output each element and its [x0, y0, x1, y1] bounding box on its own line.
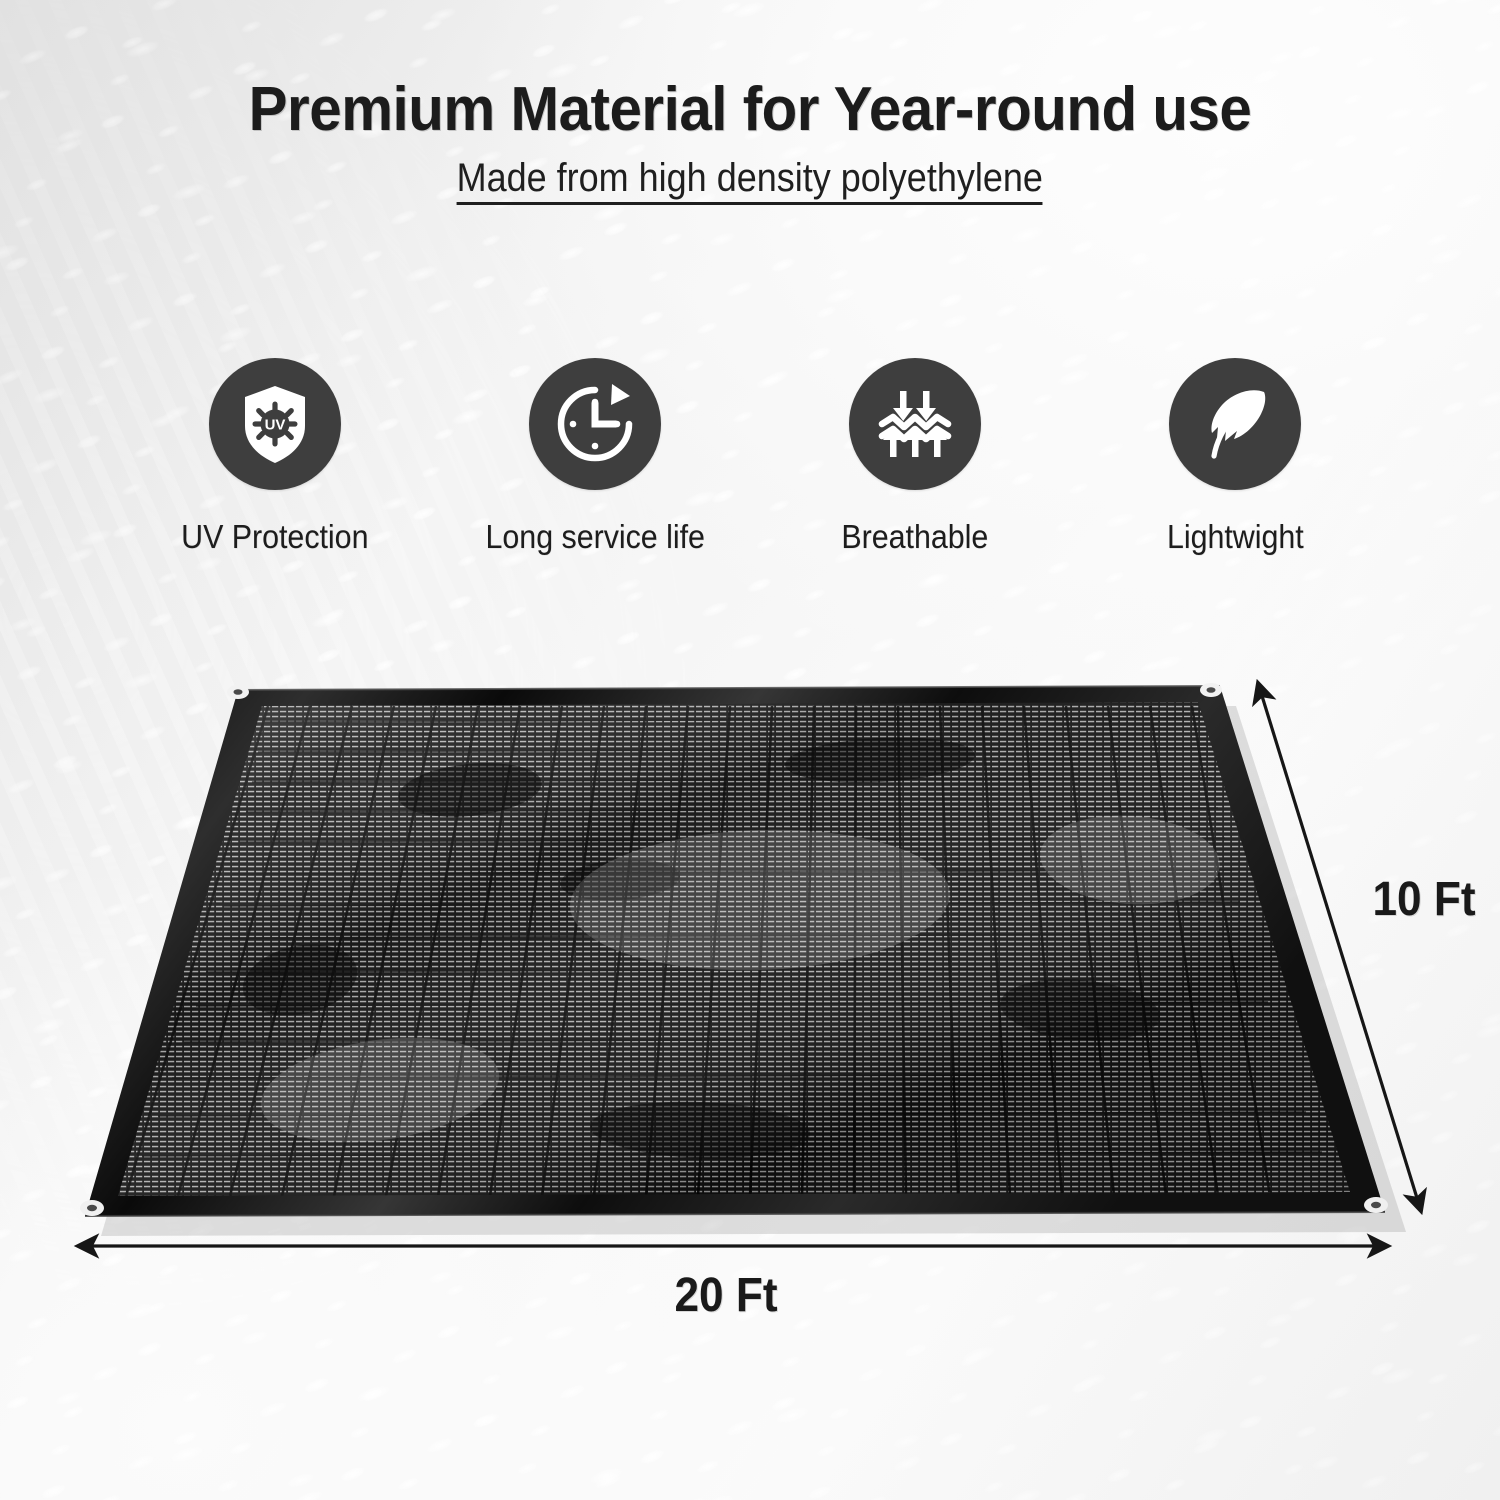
- dimension-label-width: 20 Ft: [674, 1268, 777, 1323]
- page-title: Premium Material for Year-round use: [45, 78, 1455, 141]
- clock-arrow-icon: [529, 358, 661, 490]
- page-subtitle: Made from high density polyethylene: [457, 157, 1043, 205]
- infographic-page: Premium Material for Year-round use Made…: [0, 0, 1500, 1500]
- header-block: Premium Material for Year-round use Made…: [0, 78, 1500, 205]
- feature-breathable: Breathable: [790, 358, 1040, 556]
- feather-icon: [1169, 358, 1301, 490]
- uv-badge-text: UV: [265, 417, 286, 434]
- feature-label-uv-protection: UV Protection: [181, 518, 368, 556]
- feature-long-service-life: Long service life: [470, 358, 720, 556]
- dimension-label-height: 10 Ft: [1372, 872, 1475, 927]
- breathable-waves-icon: [849, 358, 981, 490]
- feature-row: UV UV Protection Long: [150, 358, 1360, 556]
- feature-label-breathable: Breathable: [842, 518, 989, 556]
- feature-label-lightwight: Lightwight: [1167, 518, 1304, 556]
- feature-uv-protection: UV UV Protection: [150, 358, 400, 556]
- feature-label-long-service-life: Long service life: [485, 518, 704, 556]
- feature-lightwight: Lightwight: [1110, 358, 1360, 556]
- uv-shield-icon: UV: [209, 358, 341, 490]
